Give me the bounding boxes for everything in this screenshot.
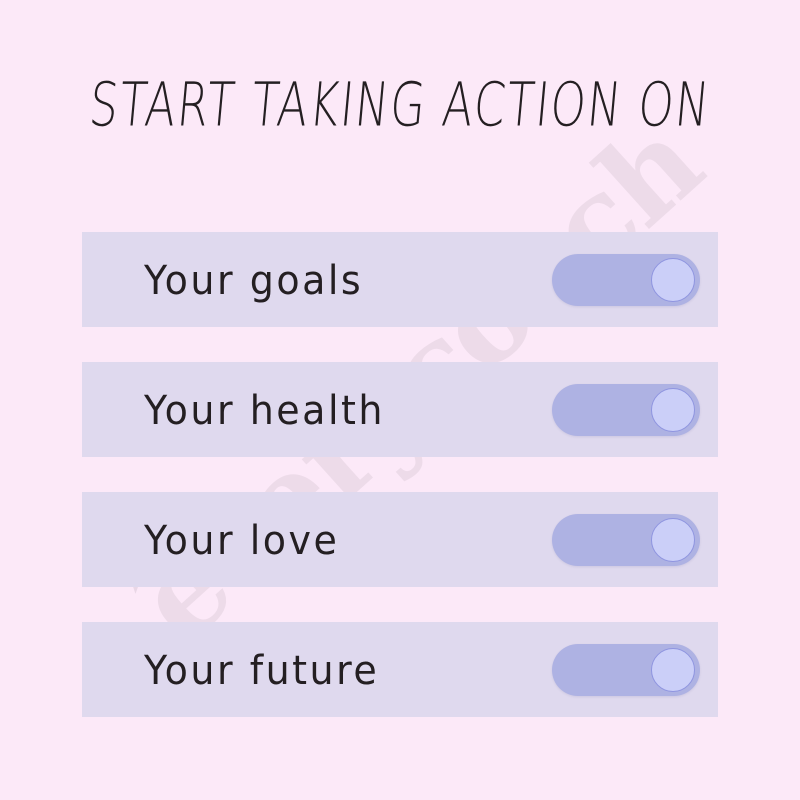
toggle-knob-icon xyxy=(651,258,695,302)
toggle-knob-icon xyxy=(651,518,695,562)
list-item[interactable]: Your goals xyxy=(82,232,718,327)
page-title: START TAKING ACTION ON xyxy=(0,78,800,134)
toggle-your-love[interactable] xyxy=(552,514,700,566)
list-item-label: Your health xyxy=(144,386,385,433)
list-item[interactable]: Your future xyxy=(82,622,718,717)
list-item[interactable]: Your health xyxy=(82,362,718,457)
list-item-label: Your love xyxy=(144,516,339,563)
toggle-knob-icon xyxy=(651,648,695,692)
list-item-label: Your goals xyxy=(144,256,363,303)
poster-canvas: everycoach START TAKING ACTION ON Your g… xyxy=(0,0,800,800)
toggle-your-goals[interactable] xyxy=(552,254,700,306)
list-item-label: Your future xyxy=(144,646,379,693)
settings-list: Your goals Your health Your love Your fu… xyxy=(82,232,718,717)
toggle-your-future[interactable] xyxy=(552,644,700,696)
toggle-knob-icon xyxy=(651,388,695,432)
toggle-your-health[interactable] xyxy=(552,384,700,436)
page-title-text: START TAKING ACTION ON xyxy=(87,76,713,136)
list-item[interactable]: Your love xyxy=(82,492,718,587)
